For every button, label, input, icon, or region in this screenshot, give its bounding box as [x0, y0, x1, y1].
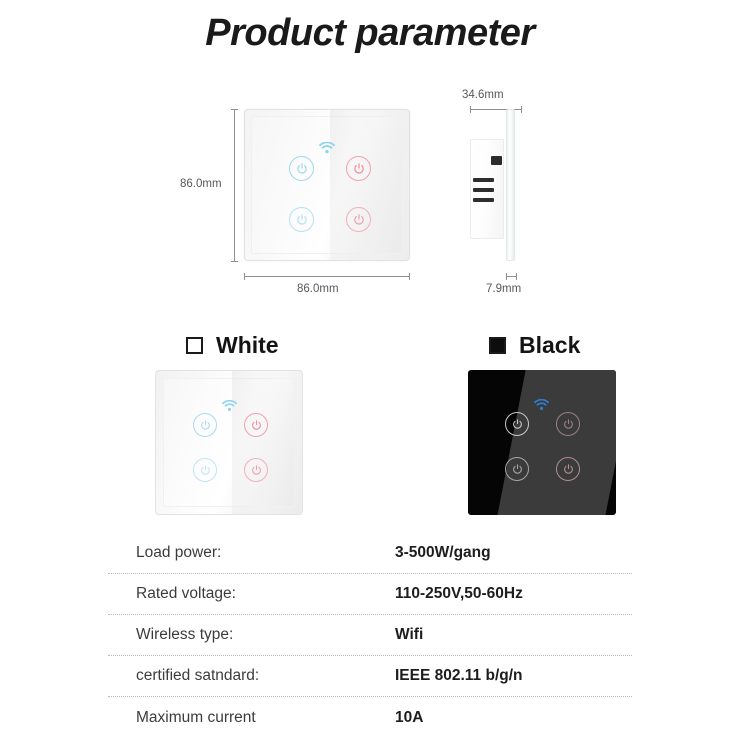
spec-value: IEEE 802.11 b/g/n — [395, 667, 523, 685]
power-icon — [512, 419, 523, 430]
power-button-bottom-left[interactable] — [193, 458, 217, 482]
product-image-white — [155, 370, 303, 515]
front-panel-glass — [244, 109, 410, 261]
color-options: White Black — [0, 330, 740, 370]
table-row: Load power: 3-500W/gang — [108, 533, 632, 574]
black-panel-reflection — [494, 370, 616, 515]
power-icon — [296, 163, 308, 175]
product-parameter-page: Product parameter 86.0mm — [0, 0, 740, 740]
spec-key: Maximum current — [108, 709, 395, 727]
power-icon — [563, 464, 574, 475]
power-button-bottom-left[interactable] — [289, 207, 314, 232]
spec-value: Wifi — [395, 626, 423, 644]
spec-table: Load power: 3-500W/gang Rated voltage: 1… — [108, 533, 632, 738]
side-panel-glass — [506, 109, 515, 261]
power-icon — [353, 163, 365, 175]
power-button-bottom-right[interactable] — [346, 207, 371, 232]
front-height-label: 86.0mm — [180, 178, 222, 190]
table-row: Rated voltage: 110-250V,50-60Hz — [108, 574, 632, 615]
table-row: certified satndard: IEEE 802.11 b/g/n — [108, 656, 632, 697]
color-option-black[interactable]: Black — [489, 332, 580, 359]
dimension-diagram: 86.0mm — [0, 95, 740, 310]
front-height-tick-top — [231, 109, 238, 110]
power-button-top-left[interactable] — [193, 413, 217, 437]
power-icon — [512, 464, 523, 475]
front-height-dim-line — [234, 109, 235, 261]
power-icon — [563, 419, 574, 430]
color-swatch-black — [489, 337, 506, 354]
side-panel-view — [470, 109, 522, 261]
side-thickness-label: 7.9mm — [486, 283, 521, 295]
power-icon — [251, 420, 262, 431]
power-button-bottom-left[interactable] — [505, 457, 529, 481]
power-button-top-right[interactable] — [244, 413, 268, 437]
side-thickness-tick-right — [516, 273, 517, 280]
table-row: Maximum current 10A — [108, 697, 632, 738]
spec-key: Rated voltage: — [108, 585, 395, 603]
power-icon — [296, 214, 308, 226]
spec-value: 110-250V,50-60Hz — [395, 585, 523, 603]
side-terminal-slot-3 — [473, 198, 494, 202]
spec-key: certified satndard: — [108, 667, 395, 685]
side-width-label: 34.6mm — [462, 89, 504, 101]
table-row: Wireless type: Wifi — [108, 615, 632, 656]
wifi-icon — [222, 400, 237, 412]
spec-key: Wireless type: — [108, 626, 395, 644]
product-image-black — [468, 370, 616, 515]
power-button-top-right[interactable] — [556, 412, 580, 436]
color-label-black: Black — [519, 332, 580, 359]
white-panel-inner — [163, 378, 295, 507]
spec-value: 3-500W/gang — [395, 544, 491, 562]
power-button-top-left[interactable] — [505, 412, 529, 436]
page-title: Product parameter — [0, 12, 740, 55]
power-button-bottom-right[interactable] — [244, 458, 268, 482]
side-terminal-slot-2 — [473, 188, 494, 192]
side-thickness-tick-left — [506, 273, 507, 280]
side-terminal-slot-1 — [473, 178, 494, 182]
front-width-tick-left — [244, 273, 245, 280]
front-width-dim-line — [244, 276, 410, 277]
wifi-icon — [534, 399, 549, 411]
side-connector-block — [491, 156, 502, 165]
power-button-bottom-right[interactable] — [556, 457, 580, 481]
power-button-top-right[interactable] — [346, 156, 371, 181]
color-label-white: White — [216, 332, 279, 359]
power-icon — [200, 465, 211, 476]
color-option-white[interactable]: White — [186, 332, 279, 359]
spec-value: 10A — [395, 709, 423, 727]
color-swatch-white — [186, 337, 203, 354]
front-width-tick-right — [409, 273, 410, 280]
power-icon — [200, 420, 211, 431]
front-panel-view — [244, 109, 410, 261]
power-icon — [353, 214, 365, 226]
power-button-top-left[interactable] — [289, 156, 314, 181]
front-width-label: 86.0mm — [297, 283, 339, 295]
power-icon — [251, 465, 262, 476]
spec-key: Load power: — [108, 544, 395, 562]
wifi-icon — [319, 142, 335, 154]
front-height-tick-bottom — [231, 261, 238, 262]
side-panel-body — [470, 139, 504, 239]
front-panel-inner — [251, 116, 403, 254]
